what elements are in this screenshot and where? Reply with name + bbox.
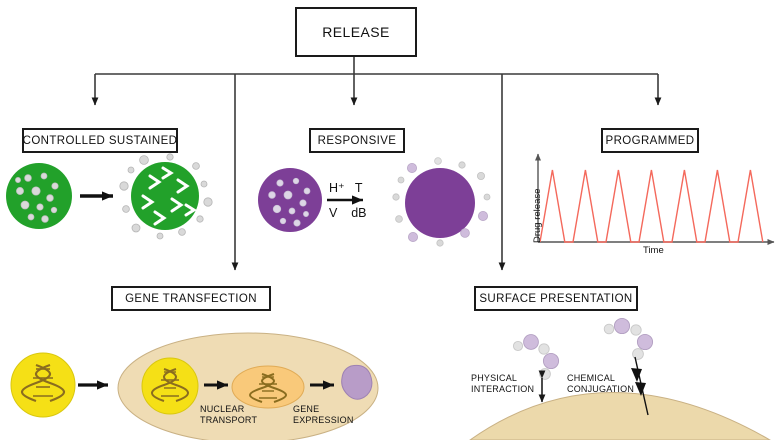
responsive-illustration — [258, 158, 490, 247]
label-box-surface-presentation: SURFACE PRESENTATION — [474, 286, 638, 311]
release-title-box: RELEASE — [295, 7, 417, 57]
ligand-chain-chemical — [604, 318, 652, 359]
label-gene-transfection: GENE TRANSFECTION — [125, 293, 257, 305]
label-responsive: RESPONSIVE — [318, 135, 397, 147]
controlled-sustained-illustration — [6, 154, 212, 239]
chart-xlabel: Time — [643, 245, 664, 256]
label-programmed: PROGRAMMED — [606, 135, 695, 147]
label-box-controlled-sustained: CONTROLLED SUSTAINED — [22, 128, 178, 153]
gene-vector-particle — [11, 353, 75, 417]
diagram-canvas: RELEASE CONTROLLED SUSTAINED RESPONSIVE … — [0, 0, 780, 440]
stimuli-bottom-label: V dB — [329, 206, 367, 220]
label-box-responsive: RESPONSIVE — [309, 128, 405, 153]
internalized-vector — [142, 358, 198, 414]
cell-nucleus — [232, 366, 304, 408]
label-controlled-sustained: CONTROLLED SUSTAINED — [23, 135, 178, 147]
label-box-programmed: PROGRAMMED — [601, 128, 699, 153]
intact-polymer-particle — [6, 163, 72, 229]
chart-ylabel: Drug release — [532, 189, 543, 243]
chart-series-line — [540, 170, 763, 242]
release-title-text: RELEASE — [322, 24, 389, 40]
diagram-graphics — [0, 0, 780, 440]
physical-interaction-label: PHYSICAL INTERACTION — [471, 373, 534, 395]
nuclear-transport-label: NUCLEAR TRANSPORT — [200, 404, 257, 426]
responsive-particle-triggered — [405, 168, 475, 238]
chemical-conjugation-label: CHEMICAL CONJUGATION — [567, 373, 634, 395]
gene-expression-label: GENE EXPRESSION — [293, 404, 354, 426]
stimuli-top-label: H⁺ T — [329, 180, 362, 195]
eroding-polymer-particle — [131, 162, 199, 230]
programmed-release-chart — [538, 154, 774, 242]
label-box-gene-transfection: GENE TRANSFECTION — [111, 286, 271, 311]
label-surface-presentation: SURFACE PRESENTATION — [479, 293, 632, 305]
responsive-particle-loaded — [258, 168, 322, 232]
nanoparticle-surface — [470, 393, 770, 440]
